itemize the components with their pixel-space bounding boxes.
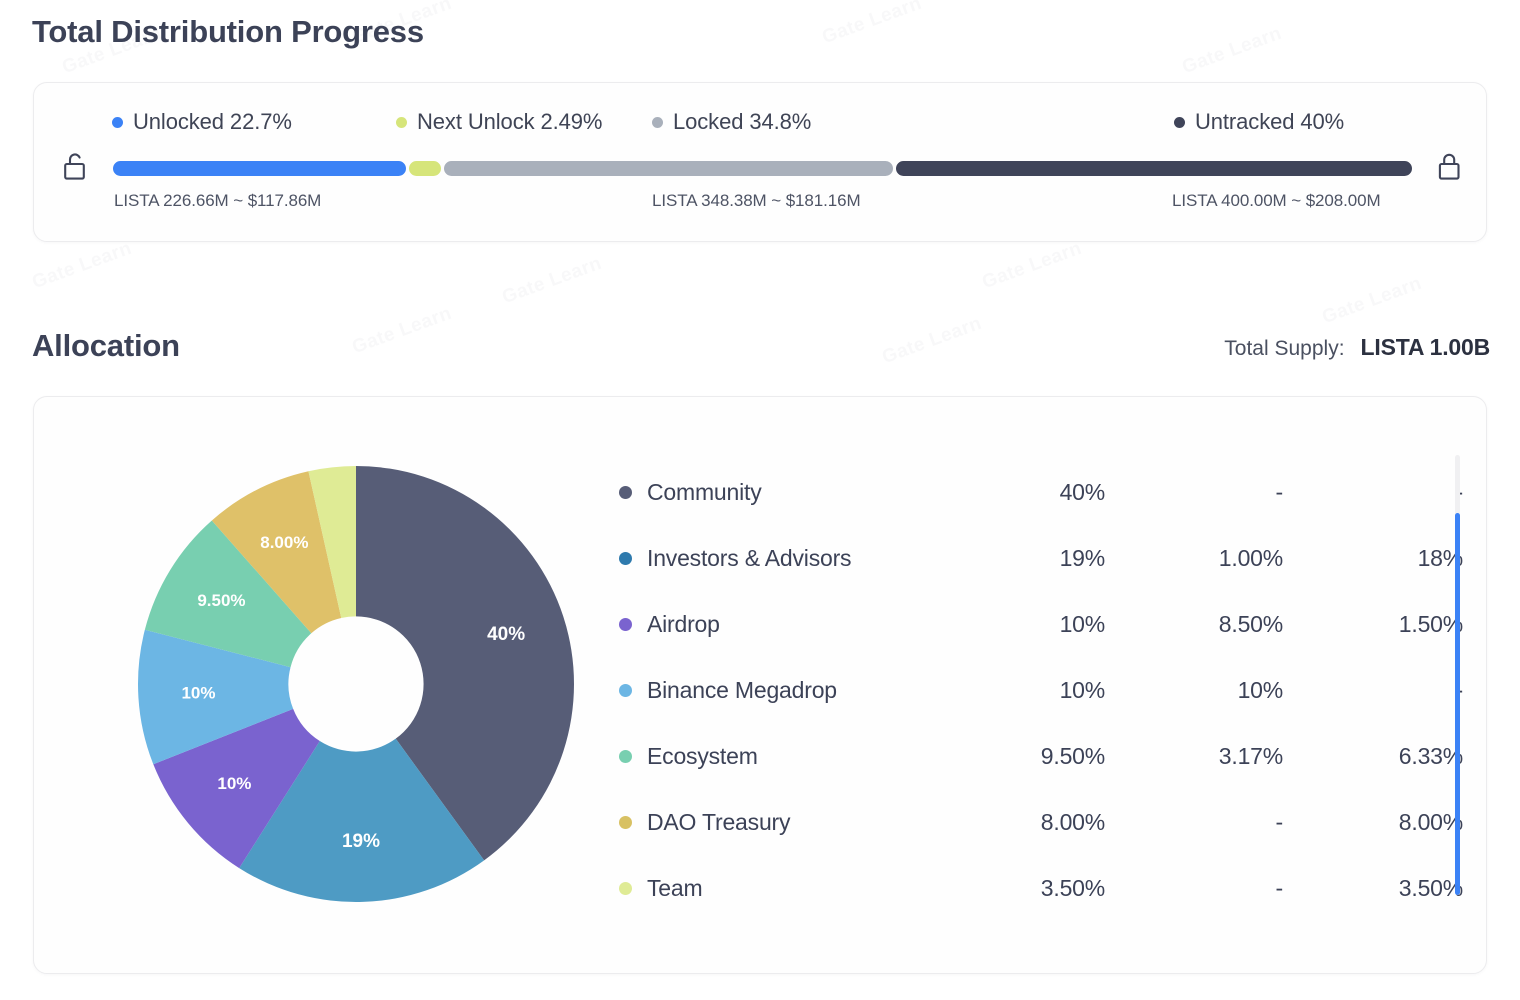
progress-bar-captions: LISTA 226.66M ~ $117.86MLISTA 348.38M ~ … [34,191,1486,217]
token-distribution-page: Gate Learn Gate Learn Gate Learn Gate Le… [0,0,1520,1000]
allocation-row[interactable]: Airdrop10%8.50%1.50% [619,591,1447,657]
allocation-category-label: Investors & Advisors [647,545,851,572]
watermark-text: Gate Learn [979,238,1085,294]
allocation-name-cell: Community [619,479,969,506]
allocation-category-label: Community [647,479,762,506]
allocation-category-label: Airdrop [647,611,720,638]
progress-segment-unlocked[interactable] [113,161,406,176]
page-title-allocation: Allocation [32,328,180,364]
allocation-color-dot-icon [619,816,632,829]
donut-slice-label: 8.00% [260,533,308,552]
allocation-row[interactable]: Ecosystem9.50%3.17%6.33% [619,723,1447,789]
donut-slice-label: 10% [217,774,251,793]
allocation-locked-percent: - [1283,677,1463,704]
allocation-name-cell: Investors & Advisors [619,545,969,572]
allocation-row[interactable]: Investors & Advisors19%1.00%18% [619,525,1447,591]
watermark-text: Gate Learn [879,313,985,369]
donut-slice-label: 19% [342,831,380,852]
donut-slice-label: 10% [181,683,215,702]
watermark-text: Gate Learn [819,0,925,49]
allocation-row[interactable]: Community40%-- [619,459,1447,525]
allocation-total-percent: 10% [969,677,1105,704]
watermark-text: Gate Learn [1179,23,1285,79]
progress-legend: Unlocked 22.7%Next Unlock 2.49%Locked 34… [34,109,1486,139]
allocation-total-percent: 19% [969,545,1105,572]
progress-bar-caption: LISTA 348.38M ~ $181.16M [652,191,861,211]
allocation-row[interactable]: Team3.50%-3.50% [619,855,1447,921]
watermark-text: Gate Learn [29,238,135,294]
allocation-unlocked-percent: 8.50% [1105,611,1283,638]
allocation-table: Community40%--Investors & Advisors19%1.0… [619,459,1447,921]
allocation-locked-percent: 8.00% [1283,809,1463,836]
total-supply: Total Supply: LISTA 1.00B [1224,334,1490,361]
allocation-locked-percent: 6.33% [1283,743,1463,770]
allocation-color-dot-icon [619,486,632,499]
allocation-color-dot-icon [619,552,632,565]
total-supply-value: LISTA 1.00B [1361,334,1490,361]
allocation-total-percent: 9.50% [969,743,1105,770]
allocation-total-percent: 10% [969,611,1105,638]
watermark-text: Gate Learn [349,303,455,359]
page-title-distribution-progress: Total Distribution Progress [32,14,424,50]
progress-legend-item-locked: Locked 34.8% [652,109,811,135]
allocation-category-label: Ecosystem [647,743,758,770]
allocation-color-dot-icon [619,618,632,631]
allocation-unlocked-percent: - [1105,875,1283,902]
progress-legend-label: Untracked 40% [1195,109,1344,135]
watermark-text: Gate Learn [1319,273,1425,329]
allocation-unlocked-percent: 10% [1105,677,1283,704]
allocation-total-percent: 8.00% [969,809,1105,836]
allocation-unlocked-percent: - [1105,809,1283,836]
progress-bar-row [34,145,1486,191]
progress-legend-label: Next Unlock 2.49% [417,109,602,135]
allocation-unlocked-percent: 1.00% [1105,545,1283,572]
allocation-locked-percent: 3.50% [1283,875,1463,902]
allocation-locked-percent: 1.50% [1283,611,1463,638]
total-supply-label: Total Supply: [1224,337,1344,361]
progress-segment-next-unlock[interactable] [409,161,441,176]
allocation-unlocked-percent: - [1105,479,1283,506]
donut-slice-label: 9.50% [197,591,245,610]
allocation-total-percent: 3.50% [969,875,1105,902]
legend-dot-icon [652,117,663,128]
progress-segment-untracked[interactable] [896,161,1412,176]
allocation-row[interactable]: DAO Treasury8.00%-8.00% [619,789,1447,855]
allocation-name-cell: Team [619,875,969,902]
allocation-category-label: DAO Treasury [647,809,790,836]
allocation-category-label: Binance Megadrop [647,677,837,704]
allocation-color-dot-icon [619,750,632,763]
allocation-name-cell: Binance Megadrop [619,677,969,704]
distribution-progress-card: Unlocked 22.7%Next Unlock 2.49%Locked 34… [33,82,1487,242]
allocation-total-percent: 40% [969,479,1105,506]
allocation-category-label: Team [647,875,702,902]
progress-legend-label: Locked 34.8% [673,109,811,135]
allocation-color-dot-icon [619,684,632,697]
lock-icon [1436,152,1464,188]
progress-bar-caption: LISTA 400.00M ~ $208.00M [1172,191,1381,211]
allocation-card: 40%19%10%10%9.50%8.00% Community40%--Inv… [33,396,1487,974]
progress-bar-caption: LISTA 226.66M ~ $117.86M [114,191,321,211]
progress-legend-label: Unlocked 22.7% [133,109,292,135]
unlock-icon [62,152,90,188]
allocation-color-dot-icon [619,882,632,895]
allocation-scrollbar-thumb[interactable] [1455,513,1460,895]
allocation-donut-chart[interactable]: 40%19%10%10%9.50%8.00% [101,452,611,922]
allocation-locked-percent: - [1283,479,1463,506]
allocation-unlocked-percent: 3.17% [1105,743,1283,770]
allocation-name-cell: DAO Treasury [619,809,969,836]
allocation-name-cell: Ecosystem [619,743,969,770]
progress-segment-locked[interactable] [444,161,893,176]
allocation-name-cell: Airdrop [619,611,969,638]
allocation-locked-percent: 18% [1283,545,1463,572]
progress-legend-item-untracked: Untracked 40% [1174,109,1344,135]
allocation-row[interactable]: Binance Megadrop10%10%- [619,657,1447,723]
legend-dot-icon [396,117,407,128]
watermark-text: Gate Learn [499,253,605,309]
donut-slice-label: 40% [487,624,525,645]
distribution-progress-bar[interactable] [113,161,1412,176]
progress-legend-item-next-unlock: Next Unlock 2.49% [396,109,602,135]
progress-legend-item-unlocked: Unlocked 22.7% [112,109,292,135]
legend-dot-icon [112,117,123,128]
legend-dot-icon [1174,117,1185,128]
